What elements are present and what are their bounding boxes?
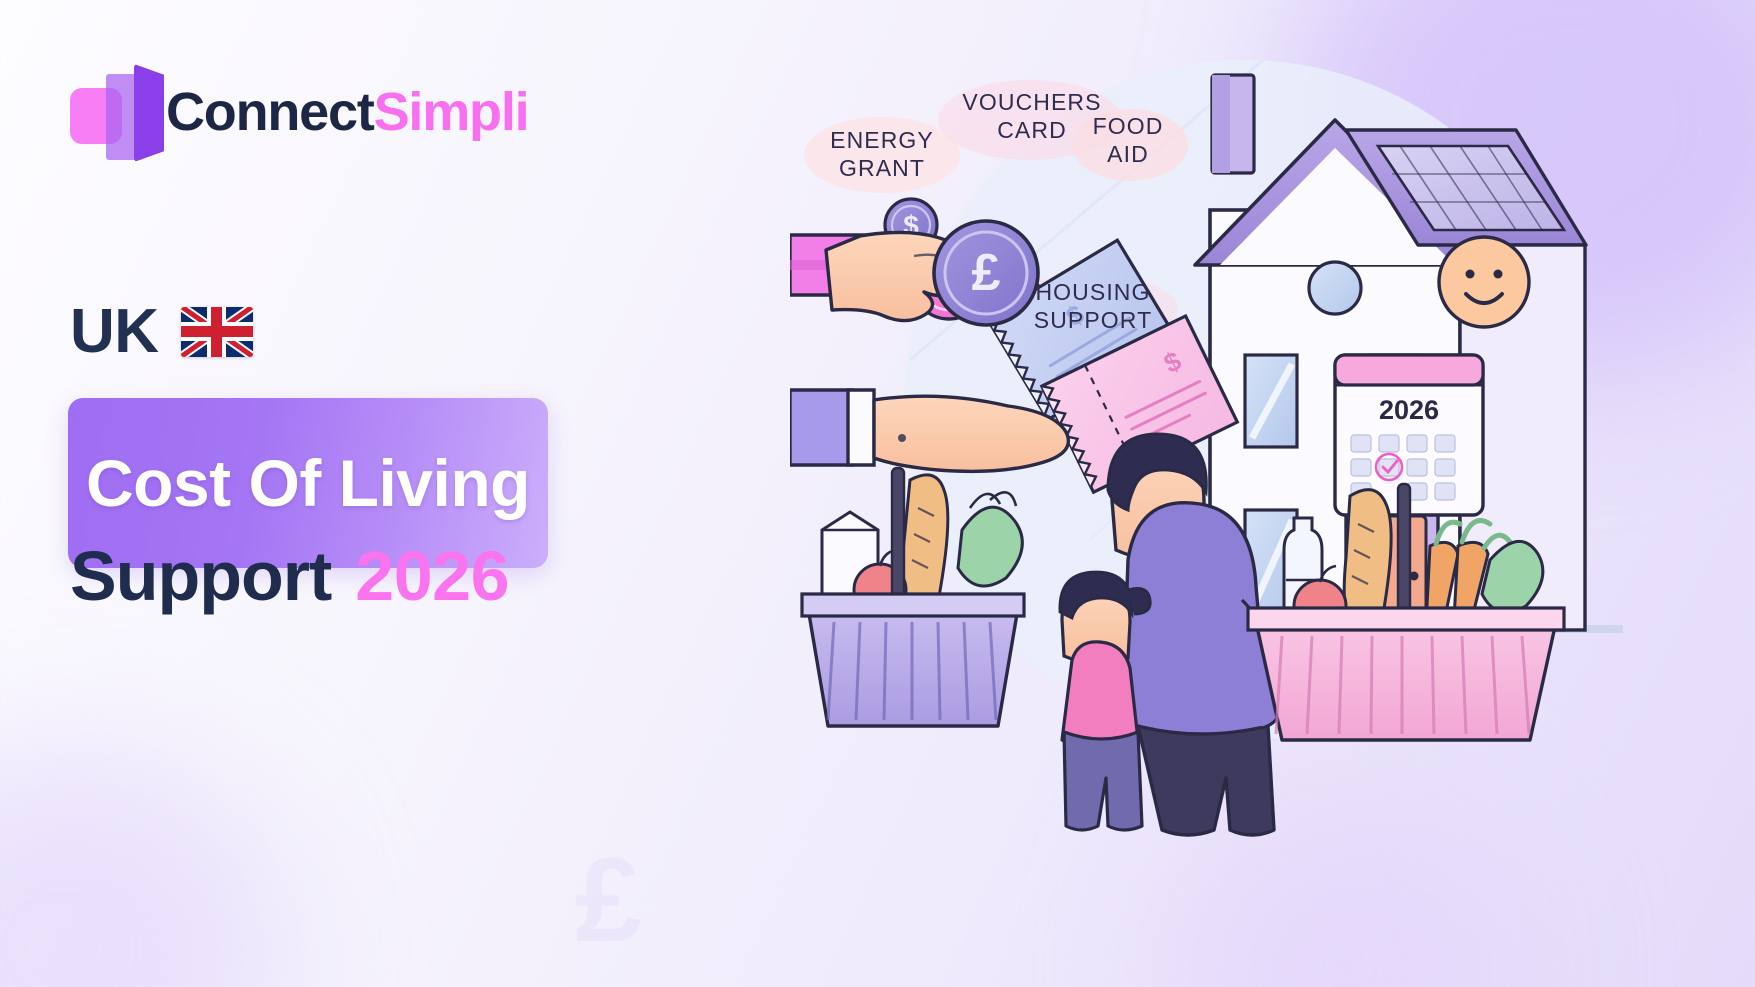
label-vouchers-card-line2: CARD — [997, 117, 1067, 143]
connectsimpli-layered-logo-icon — [68, 62, 166, 162]
label-vouchers-card-line1: VOUCHERS — [962, 89, 1101, 115]
country-label: UK — [70, 296, 159, 367]
label-food-aid-line2: AID — [1107, 141, 1149, 167]
label-energy-grant-line1: ENERGY — [830, 127, 934, 153]
round-attic-window — [1309, 262, 1361, 314]
brand-wordmark: ConnectSimpli — [166, 81, 528, 143]
logo-shape-dark-purple — [134, 64, 164, 162]
hero-left-panel: ConnectSimpli UK Cost Of Living Support … — [0, 0, 790, 987]
calendar-year: 2026 — [1379, 395, 1439, 425]
label-housing-support-line2: SUPPORT — [1034, 307, 1152, 333]
label-energy-grant-line2: GRANT — [839, 155, 925, 181]
badge-label: Cost Of Living — [86, 445, 530, 521]
support-year: 2026 — [355, 536, 509, 616]
brand-name-primary: Connect — [166, 82, 374, 142]
pound-coin-icon: £ — [934, 221, 1038, 325]
label-housing-support-line1: HOUSING — [1035, 279, 1150, 305]
smiley-face-icon — [1439, 237, 1529, 327]
country-row: UK — [70, 296, 253, 367]
support-year-row: Support 2026 — [70, 536, 509, 616]
svg-text:£: £ — [972, 244, 1001, 302]
brand-logo[interactable]: ConnectSimpli — [68, 62, 528, 162]
support-word: Support — [70, 536, 331, 616]
label-food-aid-line1: FOOD — [1093, 113, 1164, 139]
uk-flag-icon — [181, 307, 253, 357]
shopping-basket-lavender-icon — [802, 468, 1024, 726]
uk-cost-of-living-support-illustration: 2026 $ $ — [790, 60, 1690, 860]
brand-name-secondary: Simpli — [374, 82, 529, 142]
